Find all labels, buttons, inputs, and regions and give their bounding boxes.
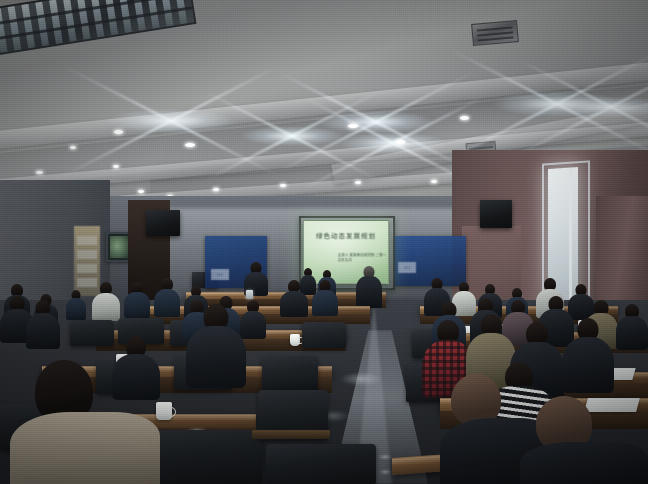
floor-reflection [379,470,392,474]
downlight [280,184,286,187]
attendee [154,278,180,314]
downlight [431,180,437,183]
attendee [92,282,120,318]
downlight [138,190,144,193]
downlight [36,171,43,174]
chair-arm [252,430,330,439]
downlight [348,124,358,128]
downlight [185,143,195,147]
downlight [396,140,405,144]
attendee [562,318,614,390]
attendee [280,280,308,314]
panel-logo-left: ITJ [211,269,229,280]
speaker-icon [146,210,180,236]
chair [70,320,114,346]
attendee [66,290,86,318]
slide-title: 绿色动态发展规划 [311,233,382,241]
conference-room-photo: ITJ ITJ 绿色动态发展规划 主讲人 某某单位研究院 二零一五年五月 [0,0,648,484]
attendee [520,396,648,484]
attendee [616,304,648,348]
floor-reflection [340,372,382,386]
presenter [356,266,382,306]
chair [150,430,262,484]
attendee [312,280,338,314]
attendee [186,304,246,384]
chair [302,322,346,348]
floor-reflection [378,455,392,459]
downlight [355,181,361,184]
speaker-icon [480,200,512,228]
slide-subtitle: 主讲人 某某单位研究院 二零一五年五月 [338,253,387,263]
mug [290,334,300,346]
attendee [10,360,160,484]
downlight [114,130,123,134]
downlight [460,116,469,120]
attendee [26,300,60,346]
panel-logo-right: ITJ [398,262,416,273]
downlight [70,146,76,149]
chair [266,444,376,484]
chair [262,356,318,390]
attendee [124,282,150,316]
downlight [213,188,219,191]
vent-icon [471,20,519,46]
phone [246,290,253,299]
downlight [113,165,119,168]
